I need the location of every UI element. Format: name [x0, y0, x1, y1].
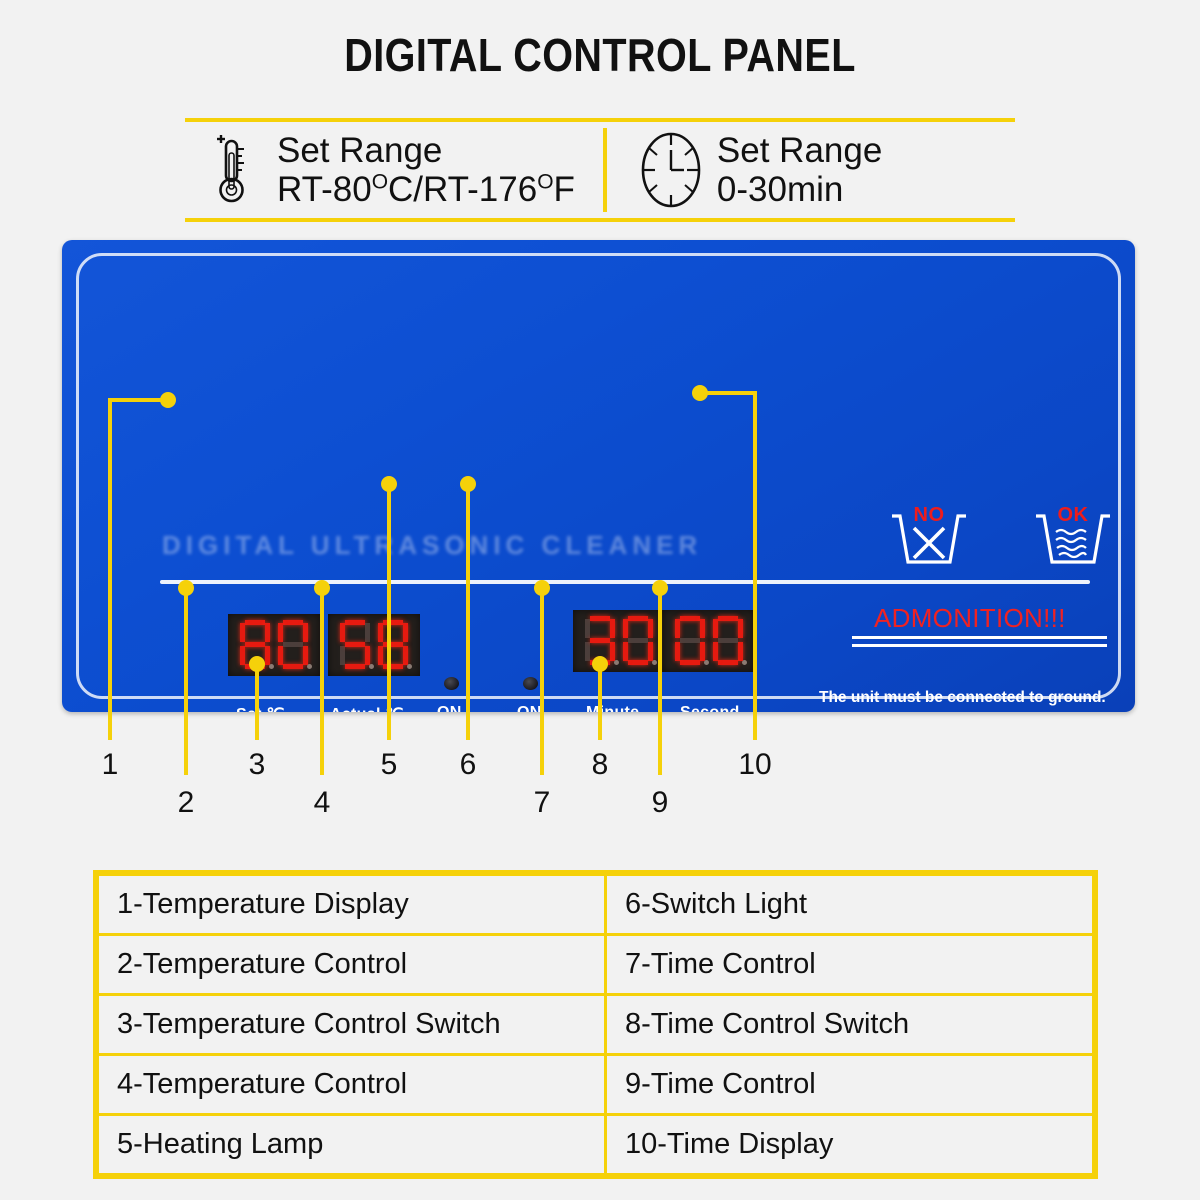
led-digit: [276, 620, 310, 670]
table-row: 4-Temperature Control 9-Time Control: [98, 1055, 1094, 1115]
callout-number-3: 3: [249, 748, 266, 782]
label-actual-celsius: Actual ℃: [330, 704, 404, 712]
spec-time: Set Range 0-30min: [607, 122, 1015, 218]
led-digit: [238, 620, 272, 670]
panel-brand-text: DIGITAL ULTRASONIC CLEANER: [162, 530, 702, 561]
spec-temperature: Set Range RT-80OC/RT-176OF: [185, 122, 603, 218]
label-minute: Minute: [586, 704, 639, 712]
tank-icon-group: NO OK: [888, 508, 1114, 570]
legend-cell-8: 8-Time Control Switch: [605, 995, 1093, 1055]
time-range-value: 0-30min: [717, 170, 882, 209]
legend-cell-4: 4-Temperature Control: [98, 1055, 606, 1115]
callout-number-10: 10: [738, 748, 771, 782]
temperature-actual-display: [328, 614, 420, 676]
legend-cell-10: 10-Time Display: [605, 1115, 1093, 1175]
led-digit: [711, 616, 745, 666]
clock-icon: [635, 128, 707, 212]
callout-number-2: 2: [178, 786, 195, 820]
table-row: 5-Heating Lamp 10-Time Display: [98, 1115, 1094, 1175]
label-on-left: ON: [437, 704, 462, 712]
page-title: DIGITAL CONTROL PANEL: [84, 28, 1116, 82]
thermometer-icon: [195, 133, 267, 207]
temp-range-label: Set Range: [277, 131, 575, 170]
legend-cell-2: 2-Temperature Control: [98, 935, 606, 995]
label-on-right: ON: [517, 704, 542, 712]
table-row: 1-Temperature Display 6-Switch Light: [98, 875, 1094, 935]
callout-number-6: 6: [460, 748, 477, 782]
tank-no-label: NO: [914, 504, 945, 527]
control-panel-photo: DIGITAL ULTRASONIC CLEANER NO OK: [62, 240, 1135, 712]
legend-cell-3: 3-Temperature Control Switch: [98, 995, 606, 1055]
switch-light-indicator: [523, 677, 538, 690]
time-second-display: [663, 610, 755, 672]
legend-cell-7: 7-Time Control: [605, 935, 1093, 995]
led-digit: [673, 616, 707, 666]
callout-number-9: 9: [652, 786, 669, 820]
label-set-celsius: Set ℃: [236, 704, 285, 712]
tank-ok-icon: OK: [1032, 508, 1114, 570]
panel-divider-line: [160, 580, 1090, 584]
legend-cell-9: 9-Time Control: [605, 1055, 1093, 1115]
admonition-rule-bottom: [852, 644, 1107, 647]
table-row: 2-Temperature Control 7-Time Control: [98, 935, 1094, 995]
led-digit: [338, 620, 372, 670]
led-digit: [621, 616, 655, 666]
spec-bar: Set Range RT-80OC/RT-176OF: [185, 118, 1015, 222]
time-minute-display: [573, 610, 665, 672]
tank-no-icon: NO: [888, 508, 970, 570]
legend-cell-1: 1-Temperature Display: [98, 875, 606, 935]
table-row: 3-Temperature Control Switch 8-Time Cont…: [98, 995, 1094, 1055]
tank-ok-label: OK: [1058, 504, 1089, 527]
legend-table: 1-Temperature Display 6-Switch Light 2-T…: [93, 870, 1098, 1179]
legend-cell-5: 5-Heating Lamp: [98, 1115, 606, 1175]
admonition-rule-top: [852, 636, 1107, 639]
label-second: Second: [680, 704, 740, 712]
callout-number-4: 4: [314, 786, 331, 820]
temp-range-value: RT-80OC/RT-176OF: [277, 170, 575, 209]
time-range-label: Set Range: [717, 131, 882, 170]
admonition-heading: ADMONITION!!!: [874, 603, 1066, 634]
led-digit: [583, 616, 617, 666]
callout-number-8: 8: [592, 748, 609, 782]
led-digit: [376, 620, 410, 670]
heating-lamp-indicator: [444, 677, 459, 690]
callout-number-5: 5: [381, 748, 398, 782]
callout-number-1: 1: [102, 748, 119, 782]
temperature-set-display: [228, 614, 320, 676]
callout-number-7: 7: [534, 786, 551, 820]
digital-control-panel-infographic: DIGITAL CONTROL PANEL Set Range: [0, 0, 1200, 1200]
legend-cell-6: 6-Switch Light: [605, 875, 1093, 935]
warning-line-1: The unit must be connected to ground.: [819, 688, 1135, 708]
